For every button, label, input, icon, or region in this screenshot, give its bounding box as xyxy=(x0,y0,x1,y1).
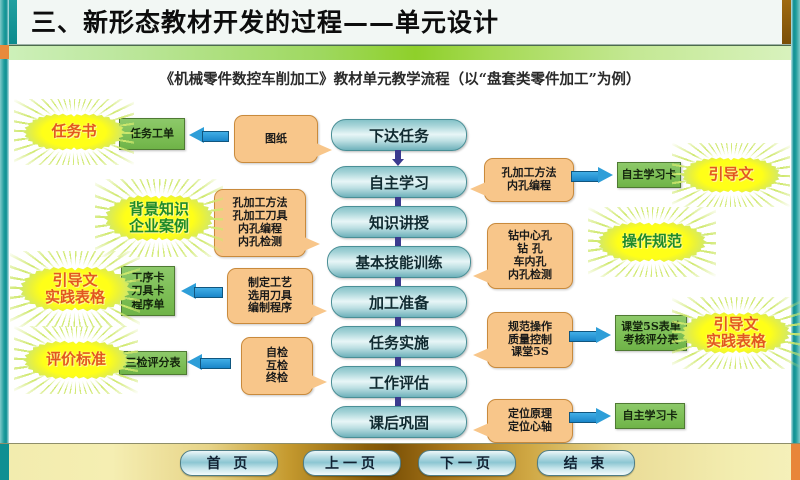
left-callout-2[interactable]: 孔加工方法 孔加工刀具 内孔编程 内孔检测 xyxy=(214,189,306,257)
callout-line: 制定工艺 xyxy=(248,277,292,290)
arrow-shaft xyxy=(202,131,229,142)
right-greenbox-3[interactable]: 自主学习卡 xyxy=(615,403,685,429)
greenbox-line: 自主学习卡 xyxy=(622,168,677,181)
burst-label: 任务书 xyxy=(51,123,96,140)
flow-node-label: 自主学习 xyxy=(369,172,429,193)
green-divider-band xyxy=(9,45,791,61)
flow-node-label: 知识讲授 xyxy=(369,212,429,233)
left-arrow-3 xyxy=(187,354,231,370)
callout-line: 规范操作 xyxy=(508,321,552,334)
right-edge-accent xyxy=(791,0,800,480)
right-burst-3: 引导文实践表格 xyxy=(681,306,791,360)
right-callout-4[interactable]: 定位原理 定位心轴 xyxy=(487,399,573,443)
title-left-accent xyxy=(9,0,17,44)
arrow-shaft xyxy=(569,331,598,342)
flow-node-6[interactable]: 任务实施 xyxy=(331,326,467,358)
left-arrow-1 xyxy=(189,127,229,143)
callout-line: 自检 xyxy=(266,347,288,360)
burst-label: 背景知识企业案例 xyxy=(129,201,189,236)
burst-label: 引导文实践表格 xyxy=(45,272,105,307)
bottom-right-accent xyxy=(791,444,800,480)
callout-tail xyxy=(473,423,489,437)
left-arrow-2 xyxy=(181,283,223,299)
callout-line: 内孔检测 xyxy=(238,236,282,249)
flow-node-2[interactable]: 自主学习 xyxy=(331,166,467,198)
flow-node-5[interactable]: 加工准备 xyxy=(331,286,467,318)
callout-tail xyxy=(311,304,327,318)
nav-button-end[interactable]: 结 束 xyxy=(537,450,635,476)
title-right-accent xyxy=(782,0,791,44)
arrow-shaft xyxy=(200,358,231,369)
arrow-head-icon xyxy=(598,167,613,183)
arrow-head-icon xyxy=(596,408,611,424)
burst-label: 评价标准 xyxy=(46,351,106,368)
orange-tab xyxy=(0,45,9,59)
burst-label: 操作规范 xyxy=(622,233,682,250)
left-burst-3: 引导文实践表格 xyxy=(19,260,131,318)
flow-node-label: 基本技能训练 xyxy=(356,252,443,273)
flow-node-label: 加工准备 xyxy=(369,292,429,313)
callout-tail xyxy=(473,348,489,362)
callout-tail xyxy=(311,375,327,389)
callout-line: 课堂5S xyxy=(511,346,549,359)
greenbox-line: 考核评分表 xyxy=(624,333,679,346)
greenbox-line: 任务工单 xyxy=(130,127,174,140)
callout-line: 图纸 xyxy=(265,133,287,146)
slide-root: 三、新形态教材开发的过程——单元设计 《机械零件数控车削加工》教材单元教学流程（… xyxy=(0,0,800,480)
bottom-left-accent xyxy=(0,444,9,480)
right-arrow-2 xyxy=(569,327,611,343)
callout-line: 内孔检测 xyxy=(508,269,552,282)
right-callout-1[interactable]: 孔加工方法 内孔编程 xyxy=(484,158,574,202)
flow-node-label: 工作评估 xyxy=(369,372,429,393)
arrow-head-icon xyxy=(596,327,611,343)
left-callout-1[interactable]: 图纸 xyxy=(234,115,318,163)
greenbox-line: 自主学习卡 xyxy=(623,409,678,422)
arrow-shaft xyxy=(569,412,598,423)
right-callout-2[interactable]: 钻中心孔 钻 孔 车内孔 内孔检测 xyxy=(487,223,573,289)
right-burst-1: 引导文 xyxy=(681,152,781,198)
callout-line: 定位心轴 xyxy=(508,421,552,434)
nav-button-next[interactable]: 下一页 xyxy=(418,450,516,476)
burst-label: 引导文实践表格 xyxy=(706,316,766,351)
right-arrow-1 xyxy=(571,167,613,183)
left-burst-4: 评价标准 xyxy=(23,335,129,385)
bottom-navigation-bar: 首 页 上一页 下一页 结 束 xyxy=(0,443,800,480)
flow-node-4[interactable]: 基本技能训练 xyxy=(327,246,471,278)
flow-node-8[interactable]: 课后巩固 xyxy=(331,406,467,438)
flow-arrow-1 xyxy=(392,150,404,166)
diagram-subtitle: 《机械零件数控车削加工》教材单元教学流程（以“盘套类零件加工”为例） xyxy=(9,68,791,89)
right-arrow-3 xyxy=(569,408,611,424)
nav-button-prev[interactable]: 上一页 xyxy=(303,450,401,476)
nav-button-home[interactable]: 首 页 xyxy=(180,450,278,476)
arrow-shaft xyxy=(571,171,600,182)
left-callout-3[interactable]: 制定工艺 选用刀具 编制程序 xyxy=(227,268,313,324)
callout-tail xyxy=(470,182,486,196)
flow-node-label: 任务实施 xyxy=(369,332,429,353)
flow-node-label: 课后巩固 xyxy=(369,412,429,433)
left-burst-2: 背景知识企业案例 xyxy=(104,188,214,248)
flow-node-1[interactable]: 下达任务 xyxy=(331,119,467,151)
title-bar: 三、新形态教材开发的过程——单元设计 xyxy=(9,0,791,45)
callout-tail xyxy=(316,143,332,157)
callout-tail xyxy=(304,237,320,251)
left-burst-1: 任务书 xyxy=(23,108,125,156)
callout-line: 终检 xyxy=(266,372,288,385)
flow-node-3[interactable]: 知识讲授 xyxy=(331,206,467,238)
callout-tail xyxy=(473,269,489,283)
flow-node-label: 下达任务 xyxy=(369,125,429,146)
page-title: 三、新形态教材开发的过程——单元设计 xyxy=(31,10,499,35)
callout-line: 编制程序 xyxy=(248,302,292,315)
arrow-shaft xyxy=(194,287,223,298)
left-callout-4[interactable]: 自检 互检 终检 xyxy=(241,337,313,395)
right-burst-2: 操作规范 xyxy=(597,216,707,268)
burst-label: 引导文 xyxy=(708,166,753,183)
right-callout-3[interactable]: 规范操作 质量控制 课堂5S xyxy=(487,312,573,368)
diagram-stage: 《机械零件数控车削加工》教材单元教学流程（以“盘套类零件加工”为例） 下达任务 … xyxy=(9,60,791,443)
flow-node-7[interactable]: 工作评估 xyxy=(331,366,467,398)
left-edge-accent xyxy=(0,0,9,480)
callout-line: 内孔编程 xyxy=(507,180,551,193)
